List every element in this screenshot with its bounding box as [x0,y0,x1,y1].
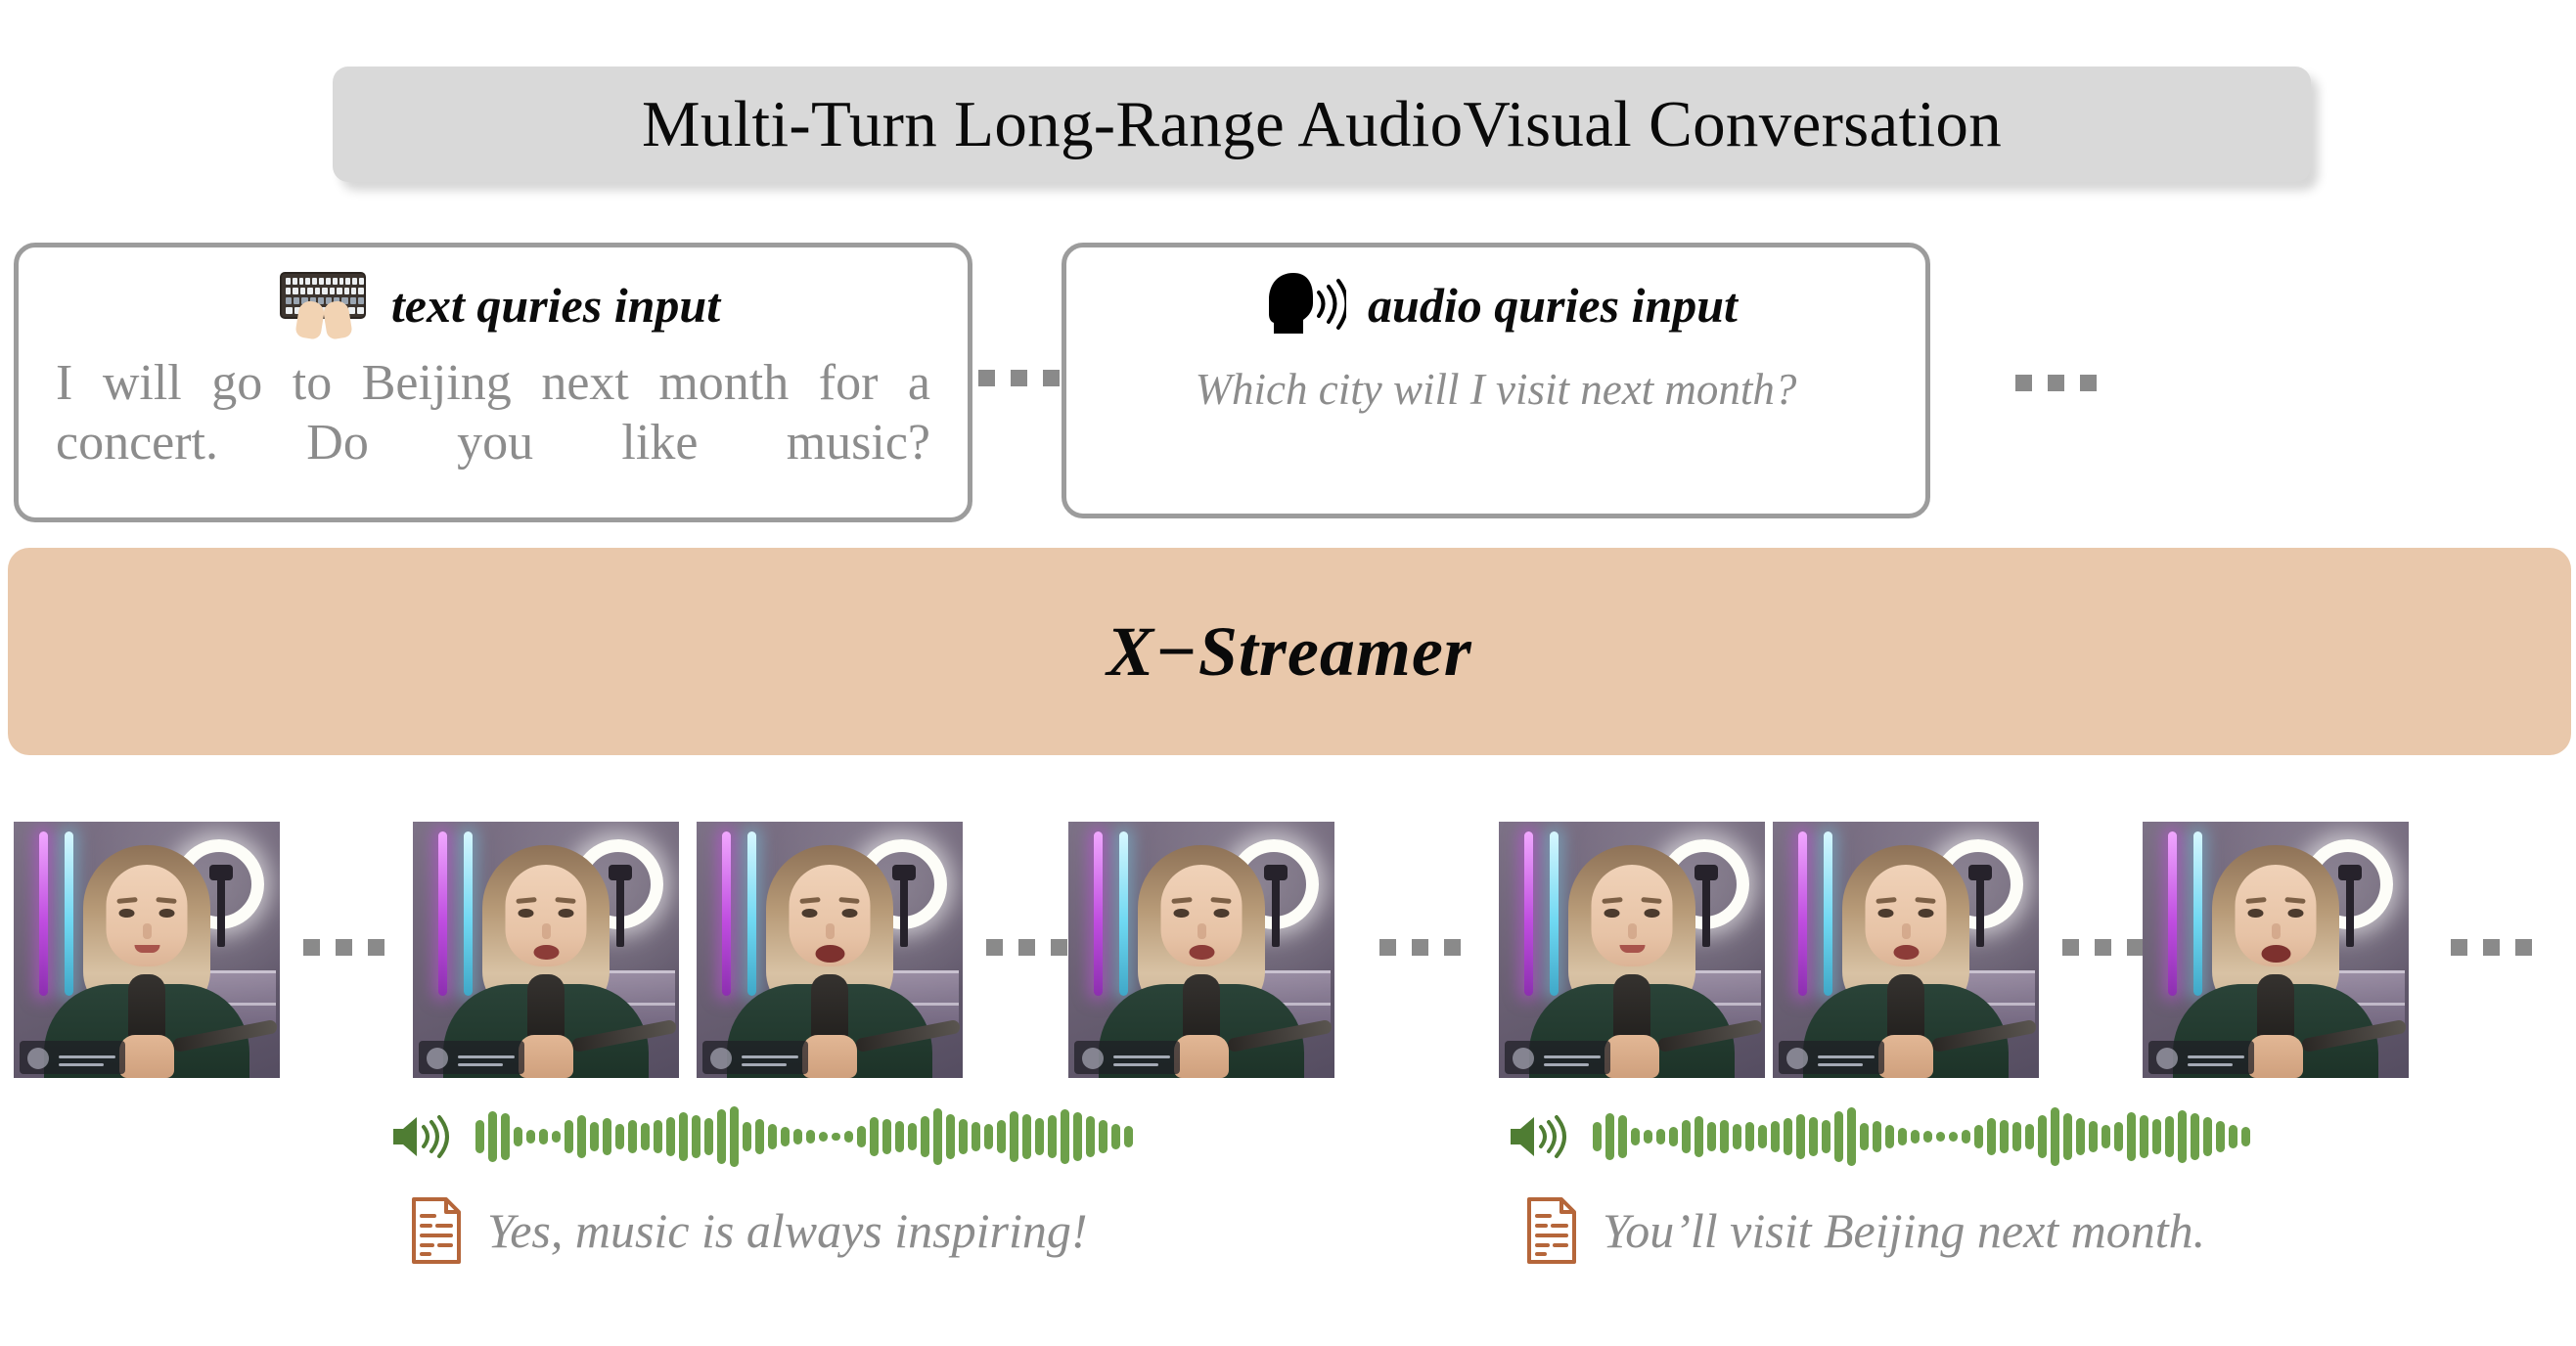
waveform-bar [2178,1110,2187,1163]
waveform-bar [1010,1111,1018,1162]
waveform-bar [603,1118,611,1155]
waveform-bar [2203,1117,2212,1156]
streamer-video-frame[interactable] [413,822,679,1078]
system-name: X−Streamer [1107,611,1472,693]
ellipsis-dot [1011,370,1027,386]
caption-text-1: Yes, music is always inspiring! [487,1202,1088,1259]
waveform-bar [870,1117,879,1156]
waveform-bar [2165,1116,2174,1157]
ellipsis-dot [368,939,384,956]
waveform-bar [2038,1115,2047,1158]
audio-output-row-1 [389,1105,1133,1168]
ellipsis-dot [2515,939,2532,956]
waveform-bar [1860,1123,1869,1150]
waveform-bar [666,1117,675,1156]
page-title: Multi-Turn Long-Range AudioVisual Conver… [642,87,2002,162]
waveform-bar [2241,1127,2250,1146]
waveform-bar [552,1131,561,1143]
query-ellipsis-1 [978,370,1060,386]
waveform-bar [743,1122,751,1151]
waveform-bar [1618,1115,1627,1158]
waveform-bar [679,1112,688,1161]
waveform-bar [984,1124,993,1149]
ellipsis-dot [1018,939,1035,956]
ellipsis-dot [2483,939,2500,956]
streamer-video-frame[interactable] [1068,822,1334,1078]
ellipsis-dot [978,370,995,386]
streamer-video-frame[interactable] [1499,822,1765,1078]
waveform-bar [895,1121,904,1152]
frame-ellipsis-2 [986,939,1067,956]
speaker-wave-icon[interactable] [389,1111,454,1162]
waveform-bar [946,1114,955,1159]
waveform-bar [1809,1117,1818,1156]
audio-query-box[interactable]: audio quries input Which city will I vis… [1062,243,1930,518]
waveform-bar [2140,1115,2148,1158]
audio-waveform-1 [475,1105,1133,1168]
waveform-bar [2089,1121,2098,1152]
waveform-bar [1124,1126,1133,1147]
waveform-bar [590,1122,599,1151]
waveform-bar [2229,1125,2237,1148]
audio-output-row-2 [1507,1105,2250,1168]
text-query-value: I will go to Beijing next month for a co… [19,347,968,473]
waveform-bar [704,1118,713,1155]
waveform-bar [1682,1120,1691,1153]
waveform-bar [972,1122,980,1151]
waveform-bar [921,1116,929,1157]
waveform-bar [806,1130,815,1144]
waveform-bar [475,1120,484,1153]
waveform-bar [2063,1113,2072,1160]
waveform-bar [1949,1132,1958,1142]
waveform-bar [768,1124,777,1149]
frame-ellipsis-1 [303,939,384,956]
waveform-bar [501,1113,510,1160]
text-query-header: text quries input [19,263,968,347]
waveform-bar [488,1111,497,1162]
frame-ellipsis-3 [1379,939,1461,956]
waveform-bar [2191,1113,2199,1160]
waveform-bar [2051,1107,2059,1166]
audio-query-header: audio quries input [1066,263,1925,347]
waveform-bar [577,1115,586,1158]
speaking-head-icon [1260,267,1346,343]
waveform-bar [1035,1118,1044,1155]
waveform-bar [2114,1122,2123,1151]
text-output-row-2: You’ll visit Beijing next month. [1524,1195,2205,1266]
waveform-bar [1593,1122,1602,1151]
speaker-wave-icon[interactable] [1507,1111,1571,1162]
waveform-bar [1111,1124,1120,1149]
waveform-bar [1644,1130,1652,1144]
document-icon [409,1195,464,1266]
frame-ellipsis-5 [2451,939,2532,956]
waveform-bar [959,1119,968,1154]
text-output-row-1: Yes, music is always inspiring! [409,1195,1088,1266]
waveform-bar [1885,1125,1894,1148]
waveform-bar [1771,1121,1780,1152]
waveform-bar [2000,1120,2009,1153]
waveform-bar [2012,1122,2021,1151]
waveform-bar [997,1120,1006,1153]
ellipsis-dot [1444,939,1461,956]
waveform-bar [933,1108,942,1165]
waveform-bar [2101,1125,2110,1148]
frame-ellipsis-4 [2062,939,2144,956]
streamer-video-frame[interactable] [1773,822,2039,1078]
waveform-bar [1974,1125,1983,1148]
waveform-bar [2025,1124,2034,1149]
waveform-bar [1733,1124,1741,1149]
document-icon [1524,1195,1579,1266]
keyboard-hands-icon [276,266,370,344]
streamer-video-frame[interactable] [14,822,280,1078]
ellipsis-dot [2127,939,2144,956]
waveform-bar [1022,1114,1031,1159]
streamer-video-frame[interactable] [697,822,963,1078]
waveform-bar [539,1129,548,1144]
text-query-box[interactable]: text quries input I will go to Beijing n… [14,243,972,522]
waveform-bar [514,1127,522,1146]
query-ellipsis-2 [2015,375,2097,391]
ellipsis-dot [303,939,320,956]
waveform-bar [1758,1125,1767,1148]
waveform-bar [654,1120,662,1153]
waveform-bar [832,1133,840,1141]
streamer-video-frame[interactable] [2143,822,2409,1078]
audio-query-label: audio quries input [1368,277,1738,334]
waveform-bar [1605,1113,1614,1160]
ellipsis-dot [2015,375,2032,391]
ellipsis-dot [2062,939,2079,956]
waveform-bar [793,1129,802,1144]
caption-text-2: You’ll visit Beijing next month. [1603,1202,2205,1259]
audio-query-value: Which city will I visit next month? [1066,347,1925,416]
waveform-bar [1962,1130,1970,1144]
waveform-bar [1631,1128,1640,1145]
waveform-bar [908,1123,917,1150]
waveform-bar [1847,1107,1856,1166]
waveform-bar [1073,1112,1082,1161]
waveform-bar [1061,1109,1069,1164]
waveform-bar [844,1131,853,1143]
waveform-bar [1695,1116,1703,1157]
waveform-bar [1822,1120,1830,1153]
ellipsis-dot [2080,375,2097,391]
ellipsis-dot [1051,939,1067,956]
waveform-bar [1745,1122,1754,1151]
ellipsis-dot [2095,939,2111,956]
waveform-bar [1873,1121,1881,1152]
waveform-bar [692,1115,700,1158]
text-query-label: text quries input [391,277,720,334]
waveform-bar [819,1132,828,1142]
waveform-bar [1936,1132,1945,1142]
waveform-bar [628,1120,637,1153]
waveform-bar [1048,1115,1057,1158]
waveform-bar [2076,1118,2085,1155]
waveform-bar [1099,1120,1107,1153]
waveform-bar [781,1127,790,1146]
waveform-bar [1987,1118,1996,1155]
waveform-bar [1720,1120,1729,1153]
ellipsis-dot [2451,939,2467,956]
ellipsis-dot [336,939,352,956]
figure-root: Multi-Turn Long-Range AudioVisual Conver… [0,0,2576,1346]
waveform-bar [1796,1114,1805,1159]
waveform-bar [2216,1121,2225,1152]
waveform-bar [1784,1118,1792,1155]
waveform-bar [717,1109,726,1164]
waveform-bar [2127,1112,2136,1161]
ellipsis-dot [1379,939,1396,956]
waveform-bar [755,1119,764,1154]
x-streamer-banner: X−Streamer [8,548,2571,755]
ellipsis-dot [1043,370,1060,386]
waveform-bar [615,1124,624,1149]
waveform-bar [882,1119,891,1154]
waveform-bar [1086,1116,1095,1157]
ellipsis-dot [2048,375,2064,391]
page-title-banner: Multi-Turn Long-Range AudioVisual Conver… [333,67,2311,182]
waveform-bar [2152,1119,2161,1154]
waveform-bar [565,1120,573,1153]
ellipsis-dot [1412,939,1428,956]
waveform-bar [1898,1128,1907,1145]
ellipsis-dot [986,939,1003,956]
waveform-bar [1669,1127,1678,1146]
waveform-bar [730,1106,739,1167]
audio-waveform-2 [1593,1105,2250,1168]
waveform-bar [857,1126,866,1147]
waveform-bar [1923,1131,1932,1143]
waveform-bar [1911,1130,1920,1144]
waveform-bar [1707,1122,1716,1151]
waveform-bar [1656,1129,1665,1144]
waveform-bar [526,1130,535,1144]
waveform-bar [641,1123,650,1150]
waveform-bar [1834,1111,1843,1162]
